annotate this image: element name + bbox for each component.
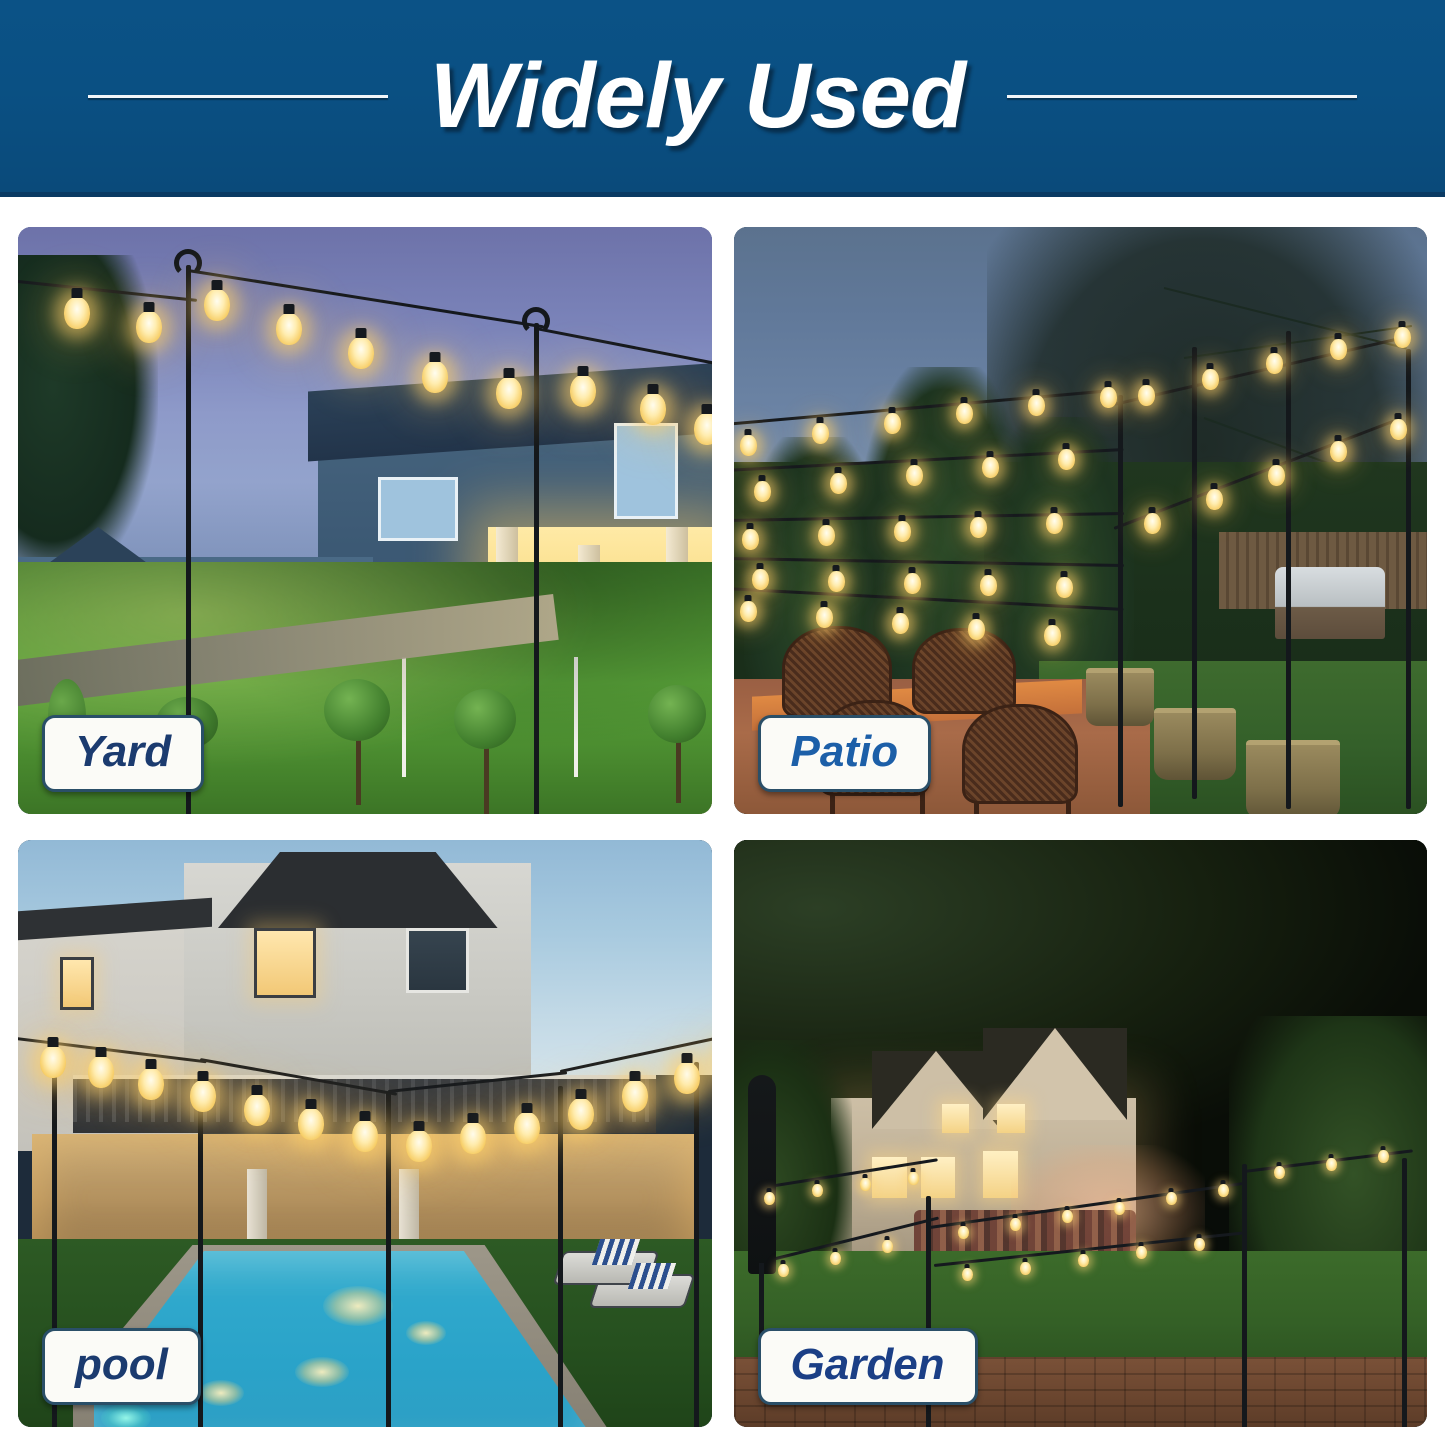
- label-badge-garden: Garden: [758, 1328, 978, 1405]
- label-text-patio: Patio: [791, 727, 899, 776]
- panel-pool[interactable]: pool: [18, 840, 712, 1427]
- panel-yard[interactable]: Yard: [18, 227, 712, 814]
- label-text-pool: pool: [75, 1340, 168, 1389]
- photo-grid: Yard: [0, 197, 1445, 1445]
- label-text-yard: Yard: [75, 727, 171, 776]
- label-text-garden: Garden: [791, 1340, 945, 1389]
- header-banner: Widely Used: [0, 0, 1445, 197]
- header-rule-left: [88, 95, 388, 98]
- panel-patio[interactable]: Patio: [734, 227, 1428, 814]
- label-badge-patio: Patio: [758, 715, 932, 792]
- header-rule-right: [1007, 95, 1357, 98]
- label-badge-yard: Yard: [42, 715, 204, 792]
- panel-garden[interactable]: Garden: [734, 840, 1428, 1427]
- page-title: Widely Used: [430, 44, 965, 149]
- label-badge-pool: pool: [42, 1328, 201, 1405]
